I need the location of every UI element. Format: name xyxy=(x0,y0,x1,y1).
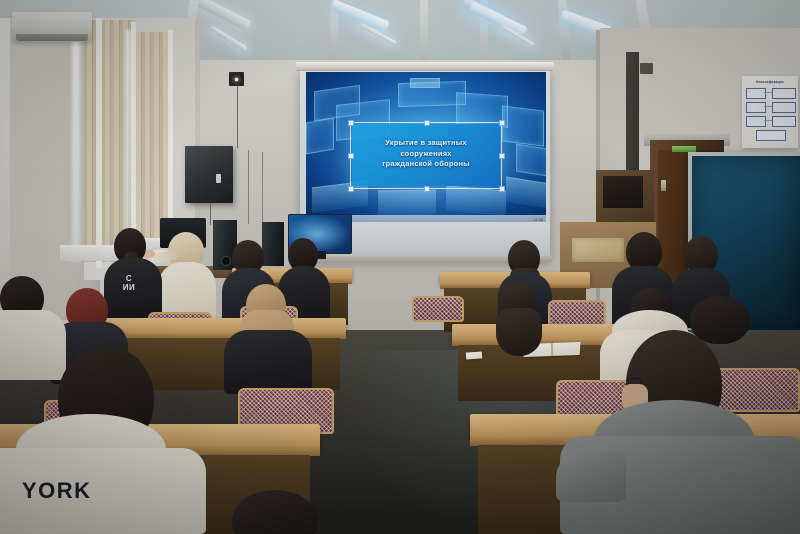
slide-title-textbox: Укрытие в защитныхсооруженияхгражданской… xyxy=(352,124,500,186)
selection-handle[interactable] xyxy=(348,153,354,159)
pc-tower xyxy=(262,222,284,266)
hoodie-back-print: YORK xyxy=(22,478,92,504)
wall-mounted-cabinet xyxy=(185,146,233,203)
poster-title: Классификация xyxy=(742,76,798,84)
person-head xyxy=(690,296,750,344)
projected-slide: Укрытие в защитныхсооруженияхгражданской… xyxy=(306,72,546,224)
person-hair xyxy=(496,308,542,356)
desk xyxy=(96,318,346,334)
window-mullion xyxy=(96,18,102,268)
selection-handle[interactable] xyxy=(499,186,505,192)
selection-handle[interactable] xyxy=(348,186,354,192)
person-arm xyxy=(556,452,626,502)
wall-poster: Классификация xyxy=(742,76,798,148)
cabinet-opening xyxy=(603,176,643,208)
speaker-cone-icon xyxy=(232,75,241,84)
cabinet-latch-icon[interactable] xyxy=(216,174,221,183)
wall-speaker xyxy=(640,63,653,74)
shelf-poster xyxy=(572,238,624,262)
selection-handle[interactable] xyxy=(424,120,430,126)
power-button-icon[interactable] xyxy=(221,256,231,266)
air-conditioner-vent xyxy=(16,34,88,41)
person-body xyxy=(0,310,66,380)
person-body xyxy=(224,330,312,394)
selection-handle[interactable] xyxy=(499,120,505,126)
classroom-photo: Укрытие в защитныхсооруженияхгражданской… xyxy=(0,0,800,534)
paper-sheet[interactable] xyxy=(466,351,482,359)
window-mullion xyxy=(168,30,173,242)
chair xyxy=(412,296,464,322)
projection-screen-roller xyxy=(296,62,554,71)
door-handle[interactable] xyxy=(661,180,666,191)
selection-handle[interactable] xyxy=(348,120,354,126)
window-glare xyxy=(72,26,80,262)
window-mullion xyxy=(131,22,136,252)
shirt-print-text: СИИ xyxy=(112,274,146,292)
ceiling-beam xyxy=(420,0,428,66)
taskbar-clock[interactable]: 14:05 xyxy=(533,218,543,222)
selection-handle[interactable] xyxy=(424,186,430,192)
selection-handle[interactable] xyxy=(499,153,505,159)
slide-title-text: Укрытие в защитныхсооруженияхгражданской… xyxy=(352,124,500,170)
window-glare xyxy=(126,30,131,244)
